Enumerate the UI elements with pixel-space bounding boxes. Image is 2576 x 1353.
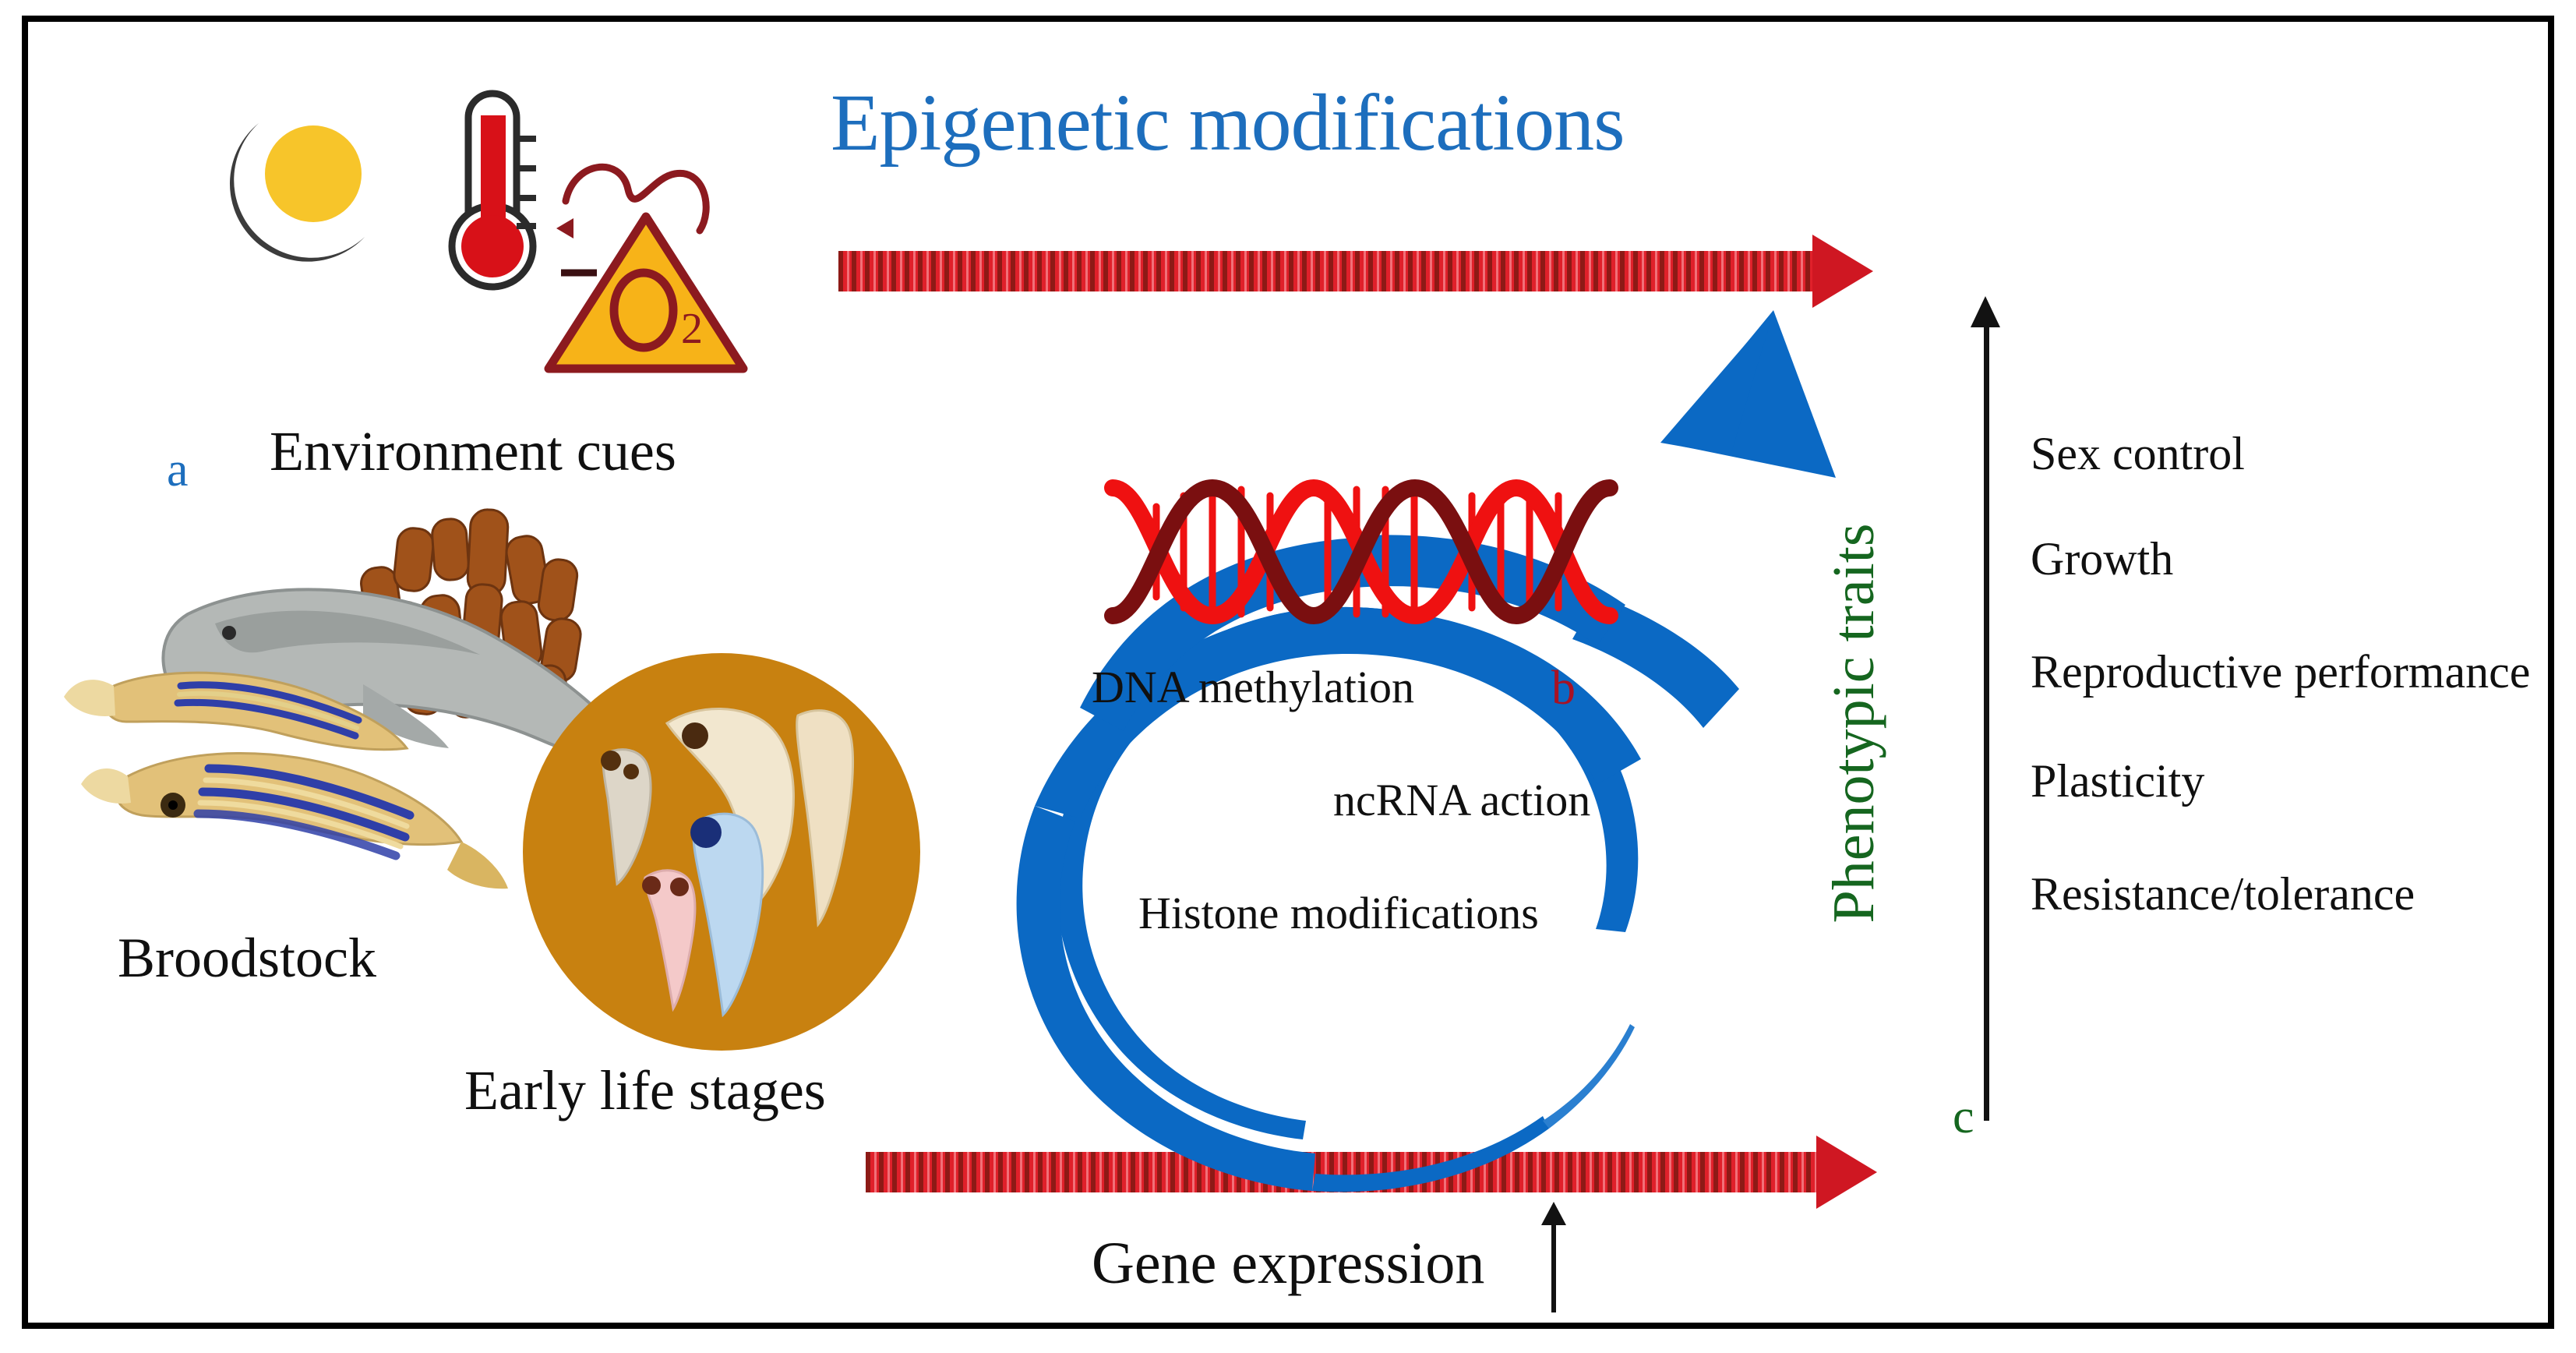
- axis-arrowhead-icon: [1971, 296, 2000, 327]
- broodstock-label: Broodstock: [118, 926, 376, 991]
- dna-methylation-label: DNA methylation: [1092, 661, 1414, 713]
- phenotypic-traits-axis: [1984, 318, 1989, 1121]
- blue-cycle-arrow: [974, 278, 1836, 1192]
- gene-expression-up-arrow-icon: [1551, 1221, 1556, 1312]
- histone-modifications-label: Histone modifications: [1138, 887, 1539, 939]
- trait-sex-control: Sex control: [2031, 427, 2245, 481]
- phenotypic-traits-axis-label: Phenotypic traits: [1820, 412, 1888, 1035]
- trait-reproductive-performance: Reproductive performance: [2031, 645, 2530, 699]
- panel-letter-a: a: [167, 443, 189, 498]
- ncrna-action-label: ncRNA action: [1333, 774, 1590, 826]
- gene-expression-label: Gene expression: [1092, 1230, 1484, 1298]
- trait-resistance-tolerance: Resistance/tolerance: [2031, 867, 2415, 921]
- trait-growth: Growth: [2031, 532, 2173, 586]
- panel-letter-b: b: [1551, 661, 1576, 716]
- figure-frame: Epigenetic modifications: [22, 16, 2554, 1329]
- early-life-stages-label: Early life stages: [464, 1058, 826, 1123]
- trait-plasticity: Plasticity: [2031, 754, 2204, 808]
- environment-cues-label: Environment cues: [270, 419, 676, 484]
- panel-letter-c: c: [1953, 1090, 1974, 1145]
- dna-double-helix-icon: [1113, 488, 1610, 616]
